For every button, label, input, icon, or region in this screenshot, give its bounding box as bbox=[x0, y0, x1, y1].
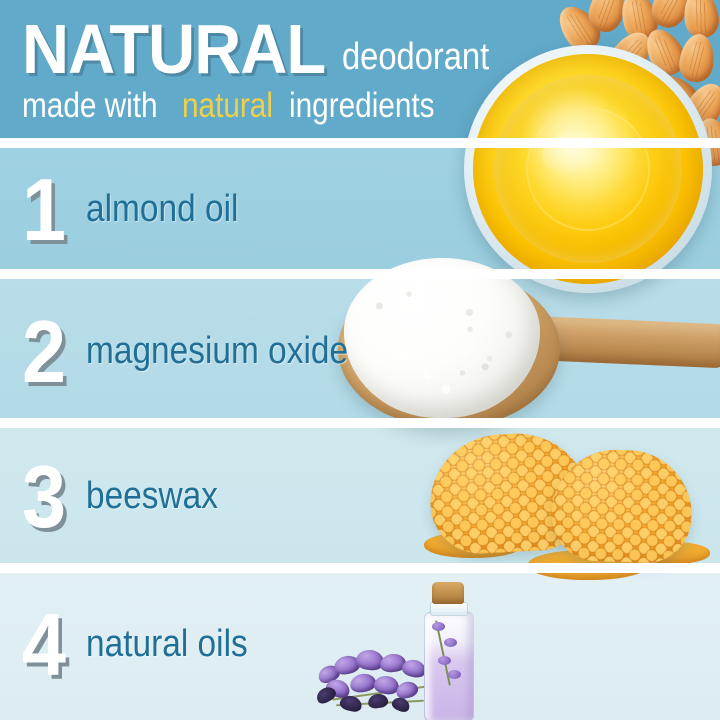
title-subword: deodorant bbox=[342, 38, 489, 76]
title-line-1: NATURALdeodorant bbox=[22, 14, 513, 84]
ingredient-number-1: 1 bbox=[22, 168, 63, 252]
subtitle: made with natural ingredients bbox=[22, 88, 513, 123]
ingredient-number-2: 2 bbox=[22, 310, 63, 394]
natural-deodorant-infographic: NATURALdeodorant made with natural ingre… bbox=[0, 0, 720, 720]
ingredient-row-3: 3 beeswax bbox=[22, 455, 236, 539]
ingredient-label-4: natural oils bbox=[86, 623, 248, 666]
magnesium-oxide-spoon-photo bbox=[330, 268, 720, 436]
ingredient-row-2: 2 magnesium oxide bbox=[22, 310, 384, 394]
divider-row2-row3 bbox=[0, 418, 720, 428]
divider-header-row1 bbox=[0, 138, 720, 148]
ingredient-label-2: magnesium oxide bbox=[86, 330, 348, 373]
divider-row3-row4 bbox=[0, 563, 720, 573]
lavender-oil-bottle bbox=[420, 582, 476, 720]
ingredient-row-4: 4 natural oils bbox=[22, 603, 270, 687]
subtitle-highlight: natural bbox=[182, 88, 273, 123]
lavender-oil-photo bbox=[316, 578, 576, 720]
subtitle-pre: made with bbox=[22, 88, 158, 123]
ingredient-label-1: almond oil bbox=[86, 188, 238, 231]
header-text-block: NATURALdeodorant made with natural ingre… bbox=[22, 14, 513, 123]
lavender-sprigs bbox=[316, 640, 436, 718]
ingredient-number-4: 4 bbox=[22, 603, 63, 687]
bottle-cork bbox=[432, 582, 464, 604]
divider-row1-row2 bbox=[0, 269, 720, 279]
beeswax-honeycomb-photo bbox=[424, 432, 720, 582]
ingredient-row-1: 1 almond oil bbox=[22, 168, 259, 252]
page-title: NATURAL bbox=[22, 14, 325, 84]
subtitle-post: ingredients bbox=[289, 88, 435, 123]
ingredient-number-3: 3 bbox=[22, 455, 63, 539]
ingredient-label-3: beeswax bbox=[86, 475, 218, 518]
